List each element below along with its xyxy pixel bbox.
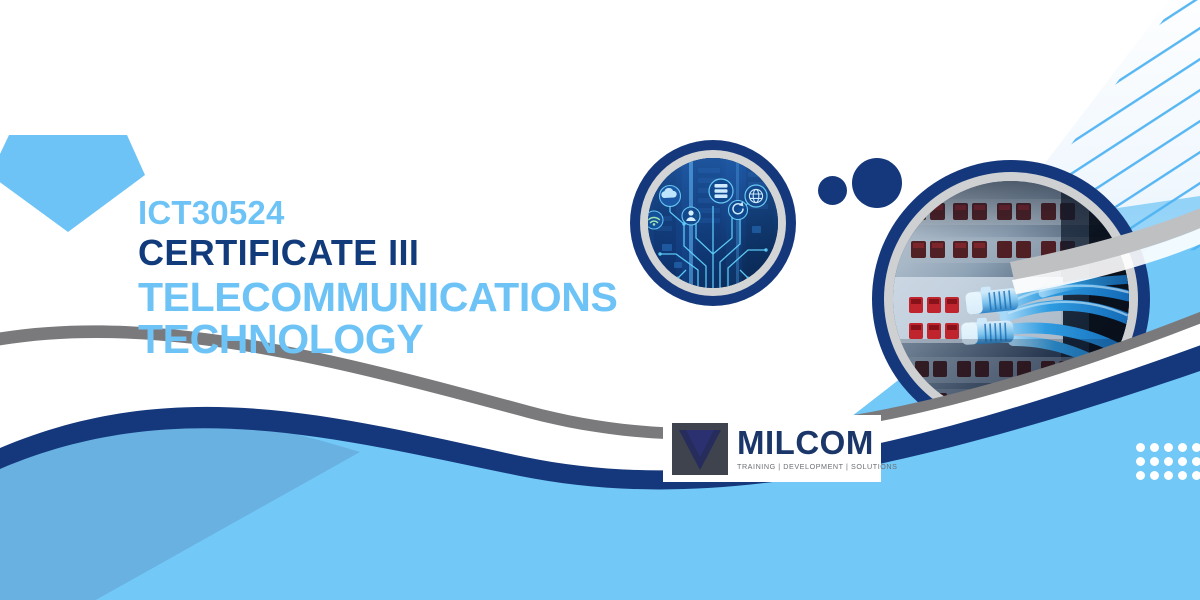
- grid-dot: [1178, 457, 1187, 466]
- headline-block: ICT30524 CERTIFICATE III TELECOMMUNICATI…: [138, 196, 617, 360]
- qualification-title: CERTIFICATE III: [138, 235, 617, 271]
- course-code: ICT30524: [138, 196, 617, 229]
- grid-dot: [1136, 443, 1145, 452]
- milcom-wordmark: MILCOM: [737, 426, 897, 459]
- grid-dot: [1192, 443, 1200, 452]
- grid-dot: [1150, 457, 1159, 466]
- grid-dot: [1150, 471, 1159, 480]
- dot-grid-decoration: [1136, 443, 1200, 480]
- milcom-v-mark-icon: [672, 423, 728, 475]
- grid-dot: [1164, 471, 1173, 480]
- grid-dot: [1178, 443, 1187, 452]
- milcom-logo[interactable]: MILCOM TRAINING | DEVELOPMENT | SOLUTION…: [663, 415, 881, 482]
- grid-dot: [1192, 457, 1200, 466]
- grid-dot: [1192, 471, 1200, 480]
- grid-dot: [1136, 457, 1145, 466]
- grid-dot: [1150, 443, 1159, 452]
- subject-title: TELECOMMUNICATIONS TECHNOLOGY: [138, 276, 617, 360]
- grid-dot: [1164, 443, 1173, 452]
- milcom-tagline: TRAINING | DEVELOPMENT | SOLUTIONS: [737, 462, 897, 471]
- grid-dot: [1136, 471, 1145, 480]
- grid-dot: [1178, 471, 1187, 480]
- milcom-logo-text: MILCOM TRAINING | DEVELOPMENT | SOLUTION…: [737, 426, 897, 471]
- grid-dot: [1164, 457, 1173, 466]
- course-banner: ICT30524 CERTIFICATE III TELECOMMUNICATI…: [0, 0, 1200, 600]
